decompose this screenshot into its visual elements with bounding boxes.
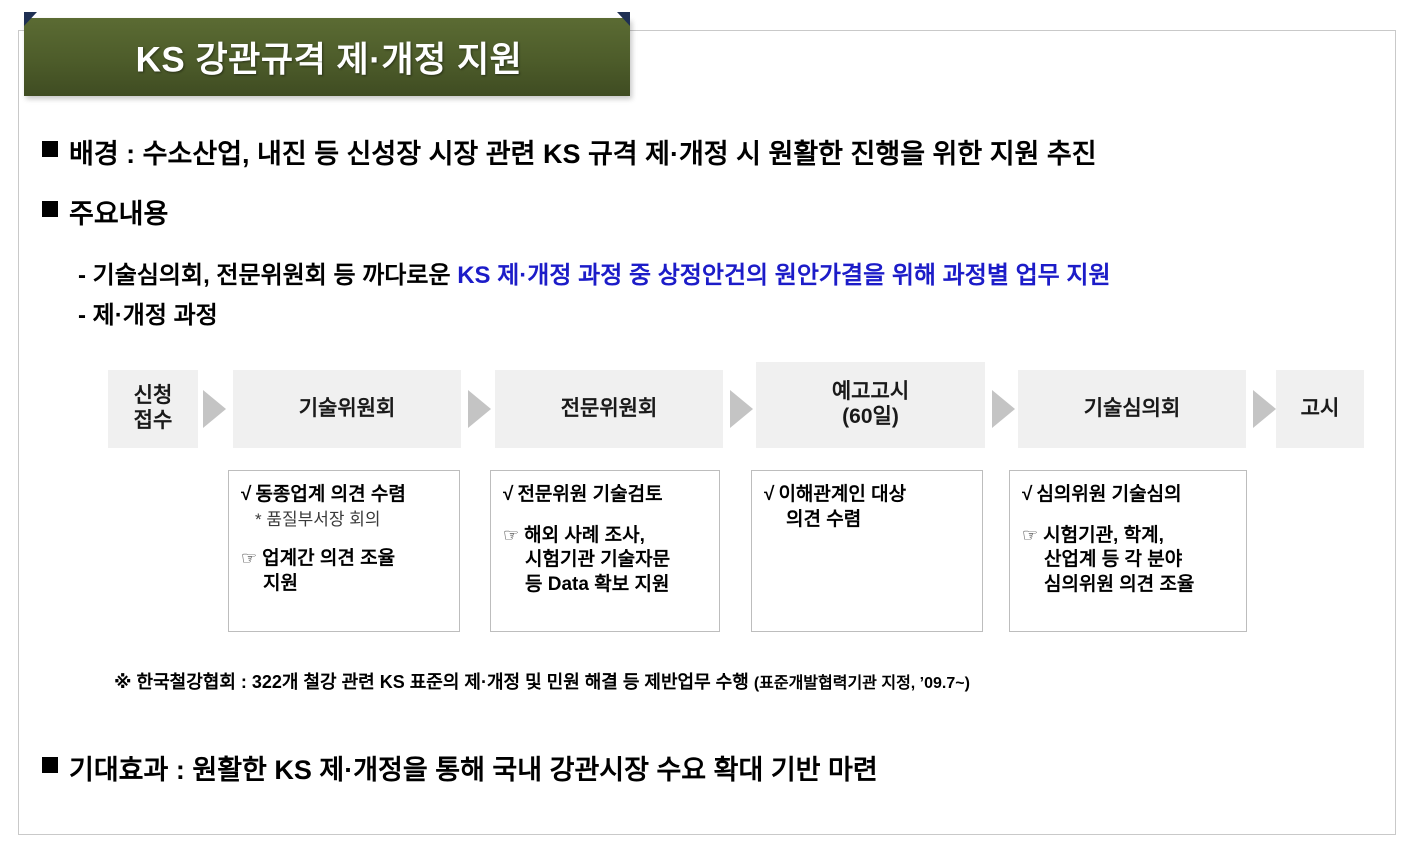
sub-item-2: - 제·개정 과정 [78,295,218,330]
flow-step-public-notice: 예고고시 (60일) [756,362,985,448]
detail-3-heading-row: √이해관계인 대상 [764,483,972,508]
detail-1-action-line1: 업계간 의견 조율 [262,548,395,569]
pointing-hand-icon: ☞ [241,547,257,570]
banner-notch-left-icon [24,12,37,26]
bullet-expected-effect-label: 기대효과 : 원활한 KS 제·개정을 통해 국내 강관시장 수요 확대 기반 … [69,748,878,787]
detail-1-action-row: ☞업계간 의견 조율 [241,547,449,572]
slide-canvas: KS 강관규격 제·개정 지원 배경 : 수소산업, 내진 등 신성장 시장 관… [0,0,1409,861]
page-title: KS 강관규격 제·개정 지원 [24,32,630,83]
detail-2-heading-row: √전문위원 기술검토 [503,483,709,508]
flow-arrow-3-icon [730,390,753,428]
detail-2-heading: 전문위원 기술검토 [517,484,662,505]
flow-step-notification-label: 고시 [1301,397,1340,422]
flow-arrow-2-icon [468,390,491,428]
footnote-text: 한국철강협회 : 322개 철강 관련 KS 표준의 제·개정 및 민원 해결 … [137,672,749,692]
check-mark-icon: √ [503,483,513,508]
flow-step-application-line1: 신청 [134,384,173,409]
flow-step-technical-committee-label: 기술위원회 [299,397,396,422]
bullet-main-label: 주요내용 [69,192,168,231]
check-mark-icon: √ [1022,483,1032,508]
flow-step-application: 신청 접수 [108,370,198,448]
detail-3-heading-line2: 의견 수렴 [764,508,972,533]
detail-box-deliberation-committee: √심의위원 기술심의 ☞시험기관, 학계, 산업계 등 각 분야 심의위원 의견… [1009,470,1247,632]
square-bullet-icon [42,201,58,217]
sub-item-1: - 기술심의회, 전문위원회 등 까다로운 KS 제·개정 과정 중 상정안건의… [78,255,1111,290]
flow-step-technical-committee: 기술위원회 [233,370,461,448]
banner-notch-right-icon [617,12,630,26]
detail-1-action-line2: 지원 [241,572,449,597]
flow-step-public-notice-line2: (60일) [832,405,909,430]
sub-item-2-dash: - [78,302,86,329]
slide-title-banner: KS 강관규격 제·개정 지원 [24,18,630,96]
detail-box-public-notice: √이해관계인 대상 의견 수렴 [751,470,983,632]
footnote-mark-icon: ※ [114,672,132,692]
check-mark-icon: √ [764,483,774,508]
detail-4-action-line3: 심의위원 의견 조율 [1022,573,1236,598]
detail-2-action-line3: 등 Data 확보 지원 [503,573,709,598]
bullet-background-label: 배경 : 수소산업, 내진 등 신성장 시장 관련 KS 규격 제·개정 시 원… [69,132,1097,171]
detail-4-action-line1: 시험기관, 학계, [1043,525,1164,546]
pointing-hand-icon: ☞ [1022,524,1038,547]
pointing-hand-icon: ☞ [503,524,519,547]
sub-item-1-dash: - [78,262,86,289]
detail-2-action-row: ☞해외 사례 조사, [503,524,709,549]
flow-step-expert-committee-label: 전문위원회 [561,397,658,422]
detail-4-action-line2: 산업계 등 각 분야 [1022,548,1236,573]
process-flow-diagram: 신청 접수 기술위원회 전문위원회 예고고시 (60일) 기술심의회 고시 [108,370,1364,448]
detail-1-note: * 품질부서장 회의 [241,508,449,532]
flow-step-expert-committee: 전문위원회 [495,370,723,448]
flow-step-application-line2: 접수 [134,409,173,434]
flow-step-public-notice-line1: 예고고시 [832,380,909,405]
detail-3-heading: 이해관계인 대상 [778,484,906,505]
detail-box-technical-committee: √동종업계 의견 수렴 * 품질부서장 회의 ☞업계간 의견 조율 지원 [228,470,460,632]
bullet-background: 배경 : 수소산업, 내진 등 신성장 시장 관련 KS 규격 제·개정 시 원… [42,132,1097,171]
flow-step-notification: 고시 [1276,370,1364,448]
bullet-main-content: 주요내용 [42,192,168,231]
detail-box-expert-committee: √전문위원 기술검토 ☞해외 사례 조사, 시험기관 기술자문 등 Data 확… [490,470,720,632]
square-bullet-icon [42,757,58,773]
sub-item-1-blue-text: KS 제·개정 과정 중 상정안건의 원안가결을 위해 과정별 업무 지원 [457,262,1110,289]
check-mark-icon: √ [241,483,251,508]
flow-arrow-4-icon [992,390,1015,428]
footnote-paren: (표준개발협력기관 지정, ’09.7~) [754,675,970,692]
detail-1-heading-row: √동종업계 의견 수렴 [241,483,449,508]
sub-item-2-label: 제·개정 과정 [93,302,218,329]
detail-4-action-row: ☞시험기관, 학계, [1022,524,1236,549]
bullet-expected-effect: 기대효과 : 원활한 KS 제·개정을 통해 국내 강관시장 수요 확대 기반 … [42,748,878,787]
square-bullet-icon [42,141,58,157]
detail-1-heading: 동종업계 의견 수렴 [255,484,405,505]
flow-arrow-1-icon [203,390,226,428]
detail-4-heading-row: √심의위원 기술심의 [1022,483,1236,508]
flow-arrow-5-icon [1253,390,1276,428]
flow-step-deliberation-committee-label: 기술심의회 [1084,397,1181,422]
sub-item-1-black-text: 기술심의회, 전문위원회 등 까다로운 [93,262,458,289]
detail-2-action-line1: 해외 사례 조사, [524,525,645,546]
footnote: ※ 한국철강협회 : 322개 철강 관련 KS 표준의 제·개정 및 민원 해… [114,668,970,694]
detail-2-action-line2: 시험기관 기술자문 [503,548,709,573]
detail-4-heading: 심의위원 기술심의 [1036,484,1181,505]
flow-step-deliberation-committee: 기술심의회 [1018,370,1246,448]
